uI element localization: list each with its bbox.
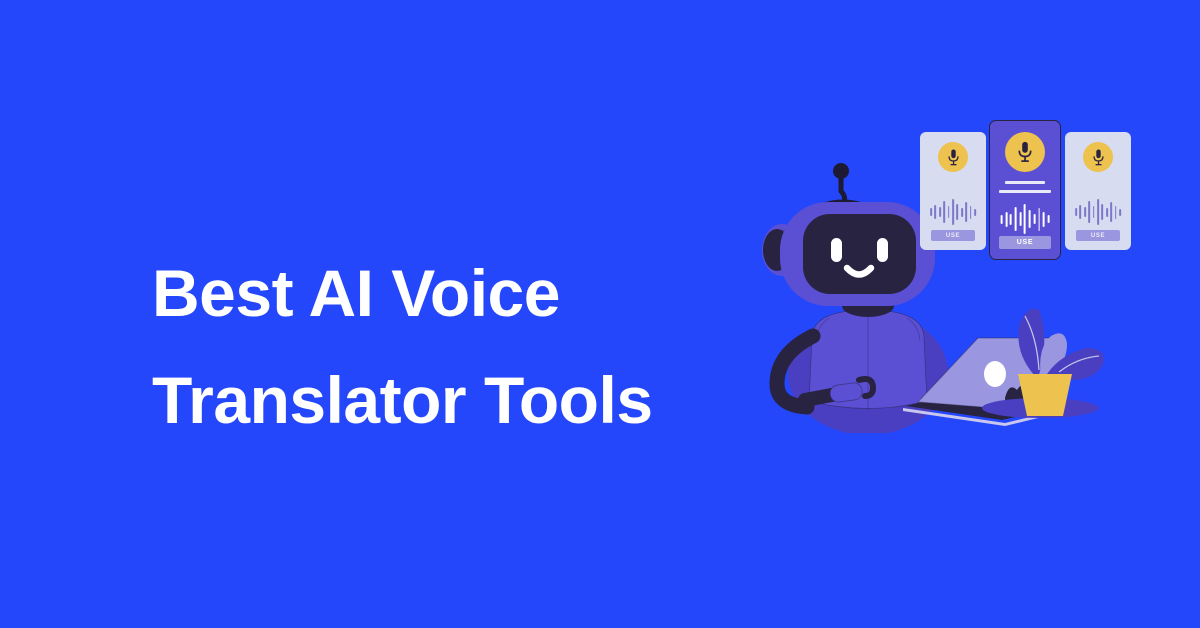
page-title: Best AI Voice Translator Tools bbox=[152, 240, 752, 454]
plant-pot bbox=[1018, 374, 1072, 416]
use-button[interactable]: USE bbox=[931, 230, 975, 241]
microphone-icon bbox=[1093, 149, 1104, 166]
hero-illustration: USE bbox=[755, 158, 1145, 433]
waveform bbox=[930, 198, 976, 226]
text-line-short bbox=[1005, 181, 1045, 184]
waveform bbox=[1001, 203, 1050, 235]
robot-head bbox=[780, 202, 935, 306]
voice-app-card-right[interactable]: USE bbox=[1065, 132, 1131, 250]
waveform bbox=[1075, 198, 1121, 226]
robot-left-eye bbox=[831, 238, 842, 262]
mic-badge bbox=[938, 142, 968, 172]
mic-badge bbox=[1005, 132, 1045, 172]
use-button[interactable]: USE bbox=[1076, 230, 1120, 241]
laptop-logo-icon bbox=[984, 361, 1006, 387]
voice-app-card-center[interactable]: USE bbox=[989, 120, 1061, 260]
use-button[interactable]: USE bbox=[999, 236, 1051, 249]
robot-torso bbox=[788, 310, 948, 433]
microphone-icon bbox=[948, 149, 959, 166]
text-line-long bbox=[999, 190, 1051, 193]
robot-right-eye bbox=[877, 238, 888, 262]
banner-canvas: Best AI Voice Translator Tools bbox=[0, 0, 1200, 628]
microphone-icon bbox=[1018, 141, 1032, 163]
mic-badge bbox=[1083, 142, 1113, 172]
voice-app-card-left[interactable]: USE bbox=[920, 132, 986, 250]
robot-antenna bbox=[821, 163, 865, 206]
